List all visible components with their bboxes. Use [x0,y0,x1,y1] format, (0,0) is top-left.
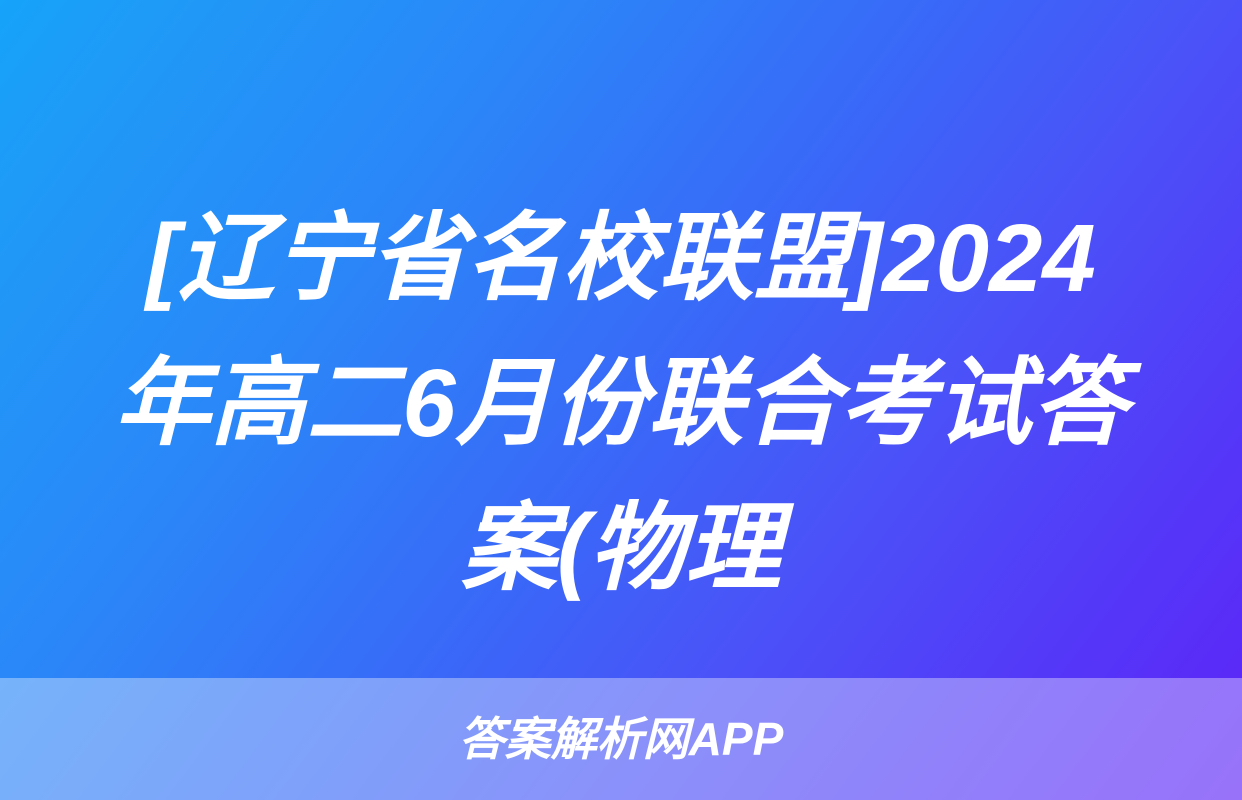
title-line-1: [辽宁省名校联盟]2024 [40,186,1202,331]
brand-label: 答案解析网APP [459,716,784,762]
promo-banner: [辽宁省名校联盟]2024 年高二6月份联合考试答 案(物理 答案解析网APP [0,0,1242,800]
title-line-3: 案(物理 [40,476,1202,621]
title-line-2: 年高二6月份联合考试答 [40,331,1202,476]
footer-brand-band: 答案解析网APP [0,678,1242,800]
title-block: [辽宁省名校联盟]2024 年高二6月份联合考试答 案(物理 [0,186,1242,621]
